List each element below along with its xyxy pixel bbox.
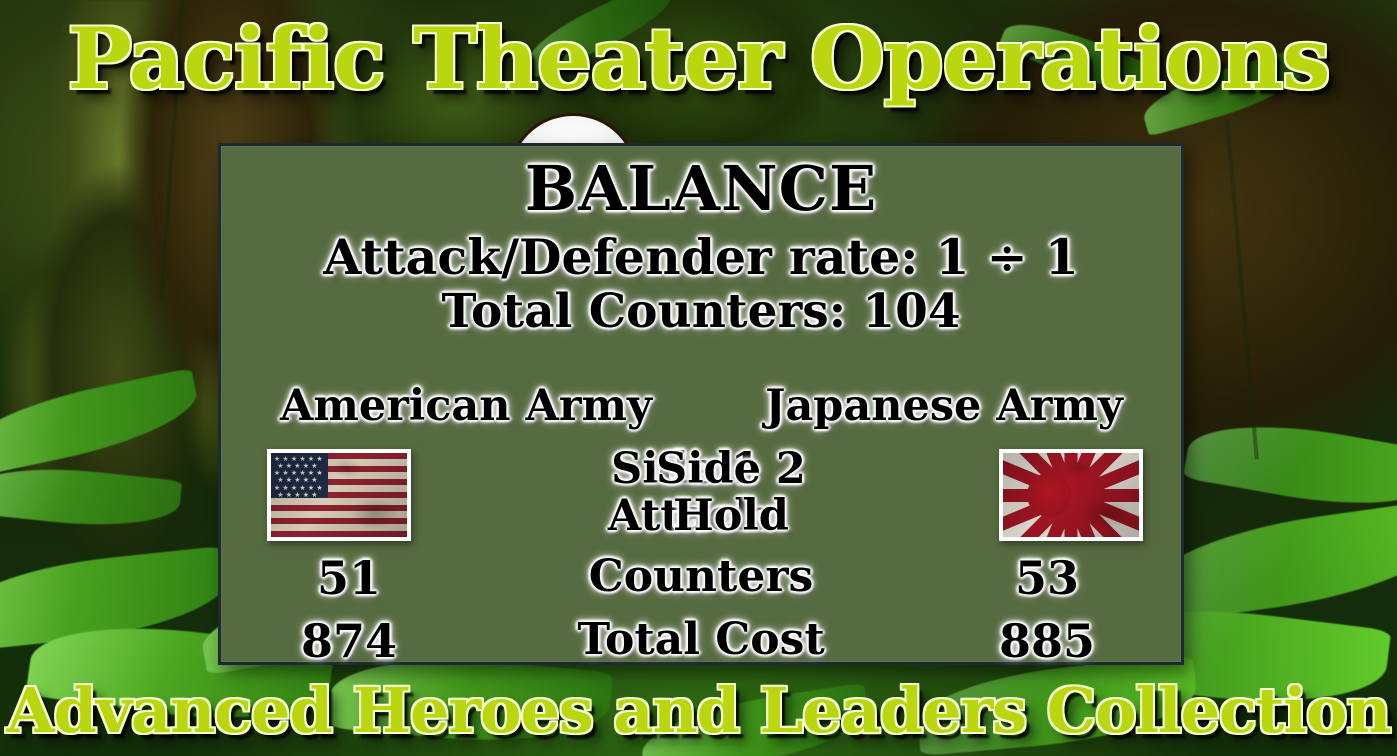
panel-heading: BALANCE [221, 156, 1181, 222]
us-flag: ★ ★ ★ ★ ★ ★ ★ ★ ★ ★ ★ ★ ★ ★ ★ ★ ★ ★ ★ ★ … [267, 449, 411, 541]
us-flag-canton: ★ ★ ★ ★ ★ ★ ★ ★ ★ ★ ★ ★ ★ ★ ★ ★ ★ ★ ★ ★ … [271, 453, 328, 498]
left-total-cost-value: 874 [229, 616, 469, 666]
right-side-posture: Hold [581, 493, 881, 540]
right-total-cost-value: 885 [927, 616, 1167, 666]
right-side-status: Side 2 Hold [581, 446, 881, 540]
right-army-name: Japanese Army [729, 382, 1159, 430]
balance-panel: BALANCE Attack/Defender rate: 1 ÷ 1 Tota… [218, 143, 1184, 665]
japan-rising-sun-flag [999, 449, 1143, 541]
left-army-name: American Army [251, 382, 681, 430]
jp-flag-sun [1027, 473, 1071, 517]
attack-defender-rate: Attack/Defender rate: 1 ÷ 1 [221, 230, 1181, 284]
right-counters-value: 53 [927, 553, 1167, 603]
total-counters: Total Counters: 104 [221, 286, 1181, 338]
left-counters-value: 51 [229, 553, 469, 603]
right-side-label: Side 2 [581, 446, 881, 493]
page-title: Pacific Theater Operations [0, 16, 1397, 102]
collection-footer: Advanced Heroes and Leaders Collection [0, 679, 1397, 743]
screen: Pacific Theater Operations BALANCE Attac… [0, 0, 1397, 756]
